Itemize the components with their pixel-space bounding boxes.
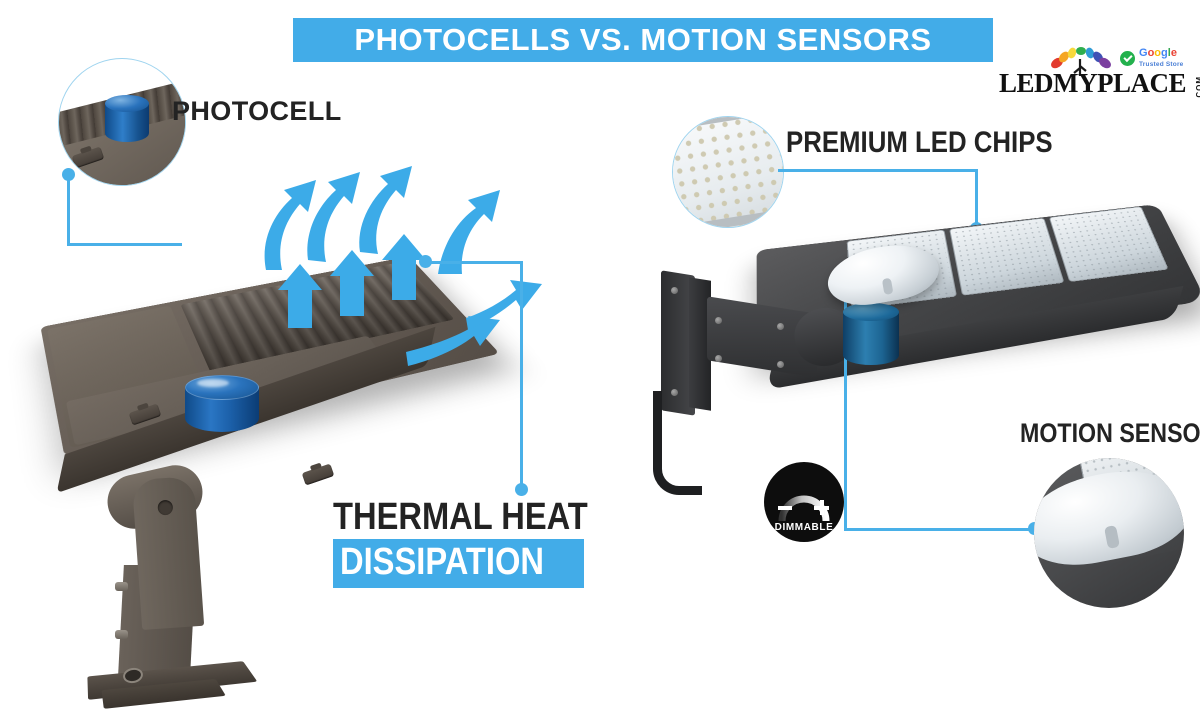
power-cord bbox=[653, 391, 702, 495]
thermal-connector-horizontal bbox=[425, 261, 523, 264]
motion-sensor-label: MOTION SENSOR bbox=[1020, 418, 1200, 449]
brand-domain-suffix: .COM bbox=[1195, 76, 1200, 101]
thermal-connector-dot-bottom bbox=[515, 483, 528, 496]
page-title-banner: PHOTOCELLS VS. MOTION SENSORS bbox=[293, 18, 993, 62]
slipfitter-bracket bbox=[85, 470, 260, 725]
thermal-connector-vertical bbox=[520, 261, 523, 489]
dimmable-badge: DIMMABLE bbox=[760, 462, 848, 546]
plus-icon bbox=[814, 500, 829, 515]
brand-wordmark: LEDMYPLACE bbox=[999, 68, 1184, 102]
led-panel bbox=[949, 218, 1064, 296]
adjustable-arm-mount bbox=[655, 273, 855, 448]
photocell-label: PHOTOCELL bbox=[172, 96, 342, 127]
motion-sensor-closeup-circle bbox=[1034, 458, 1184, 608]
google-trusted-store-badge[interactable]: Google Trusted Store bbox=[1120, 48, 1190, 72]
photocell-cylinder bbox=[843, 303, 899, 365]
infographic-canvas: PHOTOCELLS VS. MOTION SENSORS LEDMYPLACE… bbox=[0, 0, 1200, 681]
green-check-icon bbox=[1120, 51, 1135, 66]
dissipation-label: DISSIPATION bbox=[340, 541, 544, 584]
brand-logo[interactable]: LEDMYPLACE .COM Google Trusted Store bbox=[995, 46, 1195, 112]
thermal-heat-label: THERMAL HEAT bbox=[333, 496, 588, 539]
google-badge-subtitle: Trusted Store bbox=[1139, 61, 1184, 68]
housing-clip bbox=[302, 463, 335, 485]
google-wordmark: Google bbox=[1139, 48, 1177, 59]
dimmable-label: DIMMABLE bbox=[760, 522, 848, 533]
minus-icon bbox=[778, 506, 792, 510]
page-title: PHOTOCELLS VS. MOTION SENSORS bbox=[354, 22, 931, 58]
dissipation-label-highlight: DISSIPATION bbox=[333, 539, 584, 588]
motion-sensor-connector-horizontal bbox=[844, 528, 1034, 531]
right-led-fixture bbox=[655, 195, 1195, 495]
premium-led-chips-label: PREMIUM LED CHIPS bbox=[786, 126, 1053, 160]
heat-dissipation-arrows bbox=[230, 140, 560, 430]
led-chips-connector-horizontal bbox=[778, 169, 978, 172]
photocell-sensor bbox=[185, 375, 259, 435]
